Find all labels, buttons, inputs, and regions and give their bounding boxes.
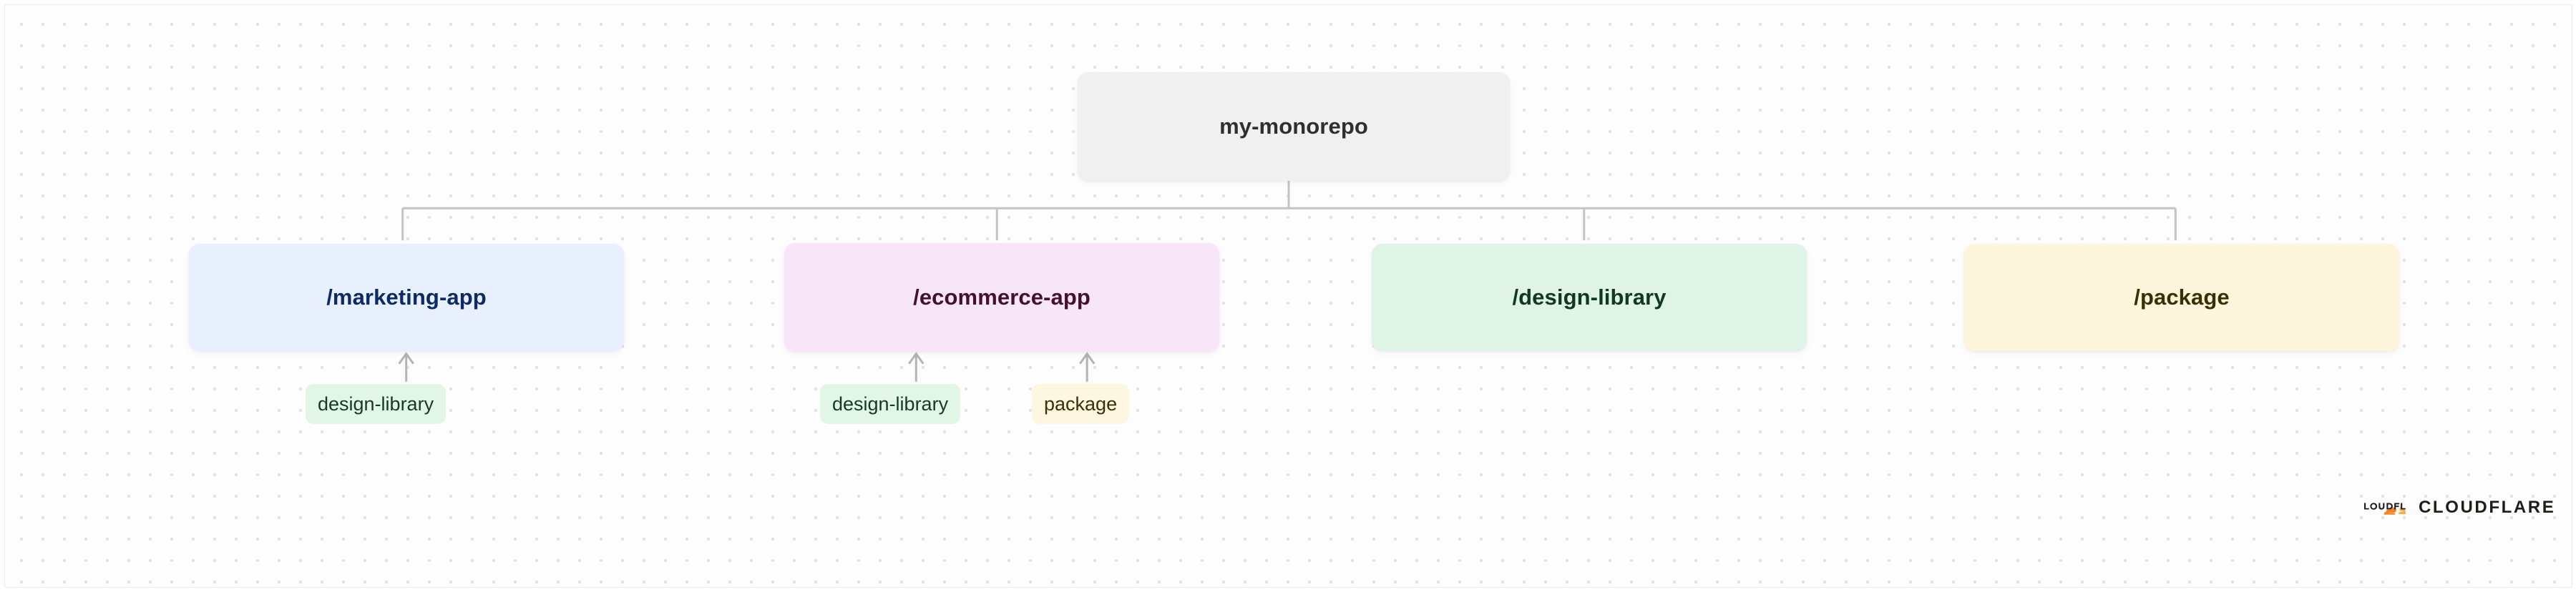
- dependency-tag-marketing-design-library[interactable]: design-library: [306, 384, 446, 424]
- dependency-tag-ecommerce-package[interactable]: package: [1032, 384, 1129, 424]
- cloudflare-logo: CLOUDFLARE: [2364, 497, 2555, 518]
- cloudflare-cloud-icon: [2364, 497, 2410, 518]
- arrow-marketing-design-library: [399, 354, 414, 382]
- node-package[interactable]: /package: [1964, 244, 2399, 351]
- node-my-monorepo[interactable]: my-monorepo: [1078, 72, 1510, 181]
- node-label: /package: [2134, 285, 2230, 310]
- dependency-tag-ecommerce-design-library[interactable]: design-library: [820, 384, 960, 424]
- node-marketing-app[interactable]: /marketing-app: [189, 244, 624, 351]
- node-label: /marketing-app: [326, 285, 487, 310]
- node-label: /ecommerce-app: [913, 285, 1091, 310]
- node-ecommerce-app[interactable]: /ecommerce-app: [784, 243, 1219, 352]
- node-label: my-monorepo: [1219, 114, 1368, 139]
- node-label: /design-library: [1512, 285, 1666, 310]
- arrow-ecommerce-design-library: [909, 354, 923, 382]
- node-design-library[interactable]: /design-library: [1372, 244, 1807, 351]
- arrow-ecommerce-package: [1080, 354, 1094, 382]
- cloudflare-wordmark: CLOUDFLARE: [2419, 498, 2555, 518]
- diagram-canvas: my-monorepo /marketing-app /ecommerce-ap…: [4, 4, 2572, 588]
